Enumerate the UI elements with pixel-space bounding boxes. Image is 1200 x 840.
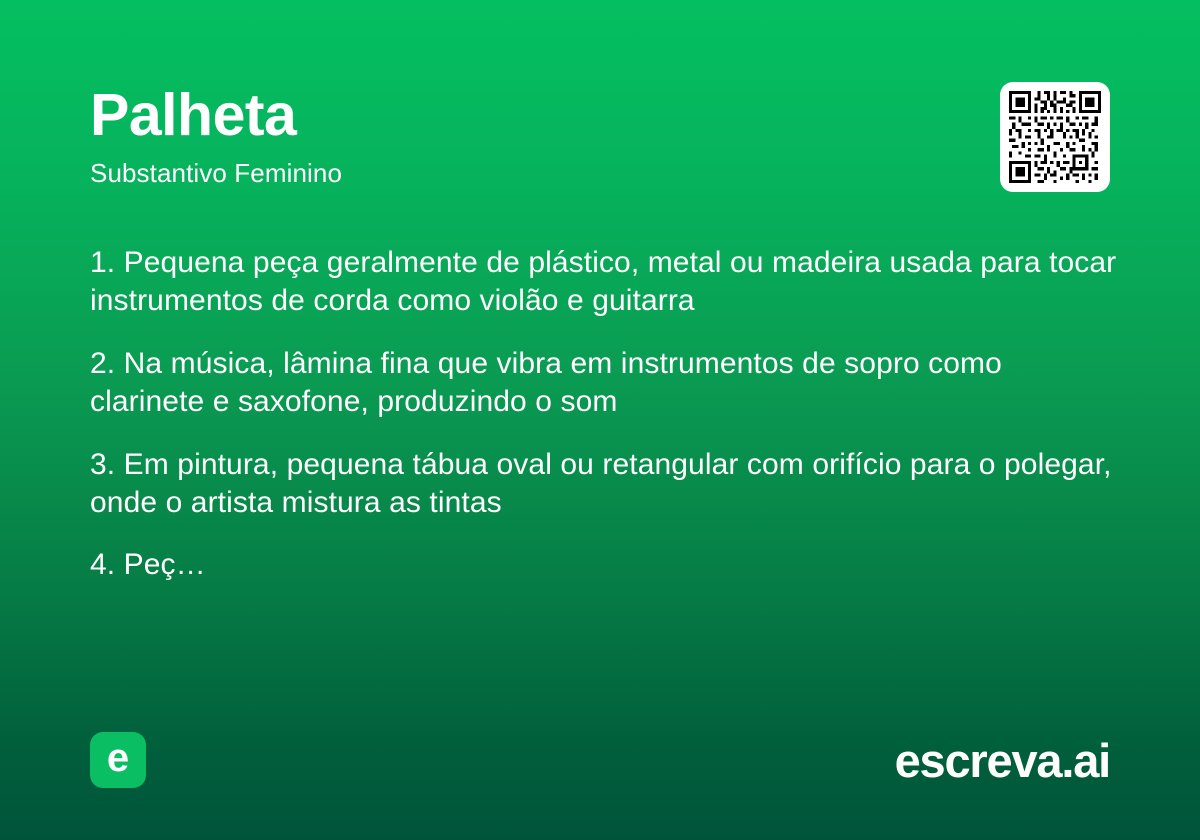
- definition-item: 1. Pequena peça geralmente de plástico, …: [90, 244, 1118, 321]
- word-class-label: Substantivo Feminino: [90, 159, 342, 188]
- logo-letter: e: [107, 738, 129, 778]
- card-footer: e escreva.ai: [90, 732, 1110, 788]
- definition-item: 4. Peç…: [90, 546, 1118, 584]
- definition-item: 2. Na música, lâmina fina que vibra em i…: [90, 345, 1118, 422]
- page-title: Palheta: [90, 86, 342, 145]
- definition-item: 3. Em pintura, pequena tábua oval ou ret…: [90, 446, 1118, 523]
- qr-code-icon[interactable]: [1000, 82, 1110, 192]
- heading-group: Palheta Substantivo Feminino: [90, 82, 342, 188]
- brand-wordmark: escreva.ai: [895, 737, 1110, 784]
- definitions-list: 1. Pequena peça geralmente de plástico, …: [90, 244, 1118, 585]
- escreva-logo-icon: e: [90, 732, 146, 788]
- card-header: Palheta Substantivo Feminino: [90, 82, 1110, 192]
- definition-card: Palheta Substantivo Feminino: [0, 0, 1200, 840]
